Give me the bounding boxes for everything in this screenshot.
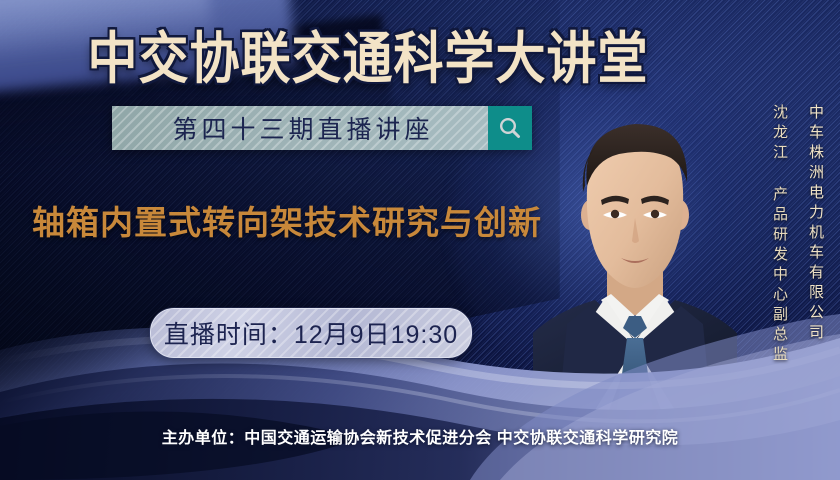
episode-label: 第四十三期直播讲座 (166, 110, 433, 146)
speaker-company: 中车株洲电力机车有限公司 (805, 104, 826, 344)
broadcast-time-label: 直播时间：12月9日19:30 (164, 315, 458, 351)
search-icon[interactable] (488, 106, 532, 150)
live-lecture-poster: 中交协联交通科学大讲堂 第四十三期直播讲座 轴箱内置式转向架技术研究与创新 直播… (0, 0, 840, 480)
episode-banner-body: 第四十三期直播讲座 (112, 106, 488, 150)
organizer-footer: 主办单位：中国交通运输协会新技术促进分会 中交协联交通科学研究院 (0, 424, 840, 448)
episode-banner: 第四十三期直播讲座 (112, 106, 532, 150)
speaker-name-and-role: 沈龙江 产品研发中心副总监 (769, 104, 790, 366)
broadcast-time-badge: 直播时间：12月9日19:30 (150, 308, 472, 358)
page-title: 中交协联交通科学大讲堂 (0, 14, 736, 95)
lecture-topic-title: 轴箱内置式转向架技术研究与创新 (32, 196, 542, 244)
